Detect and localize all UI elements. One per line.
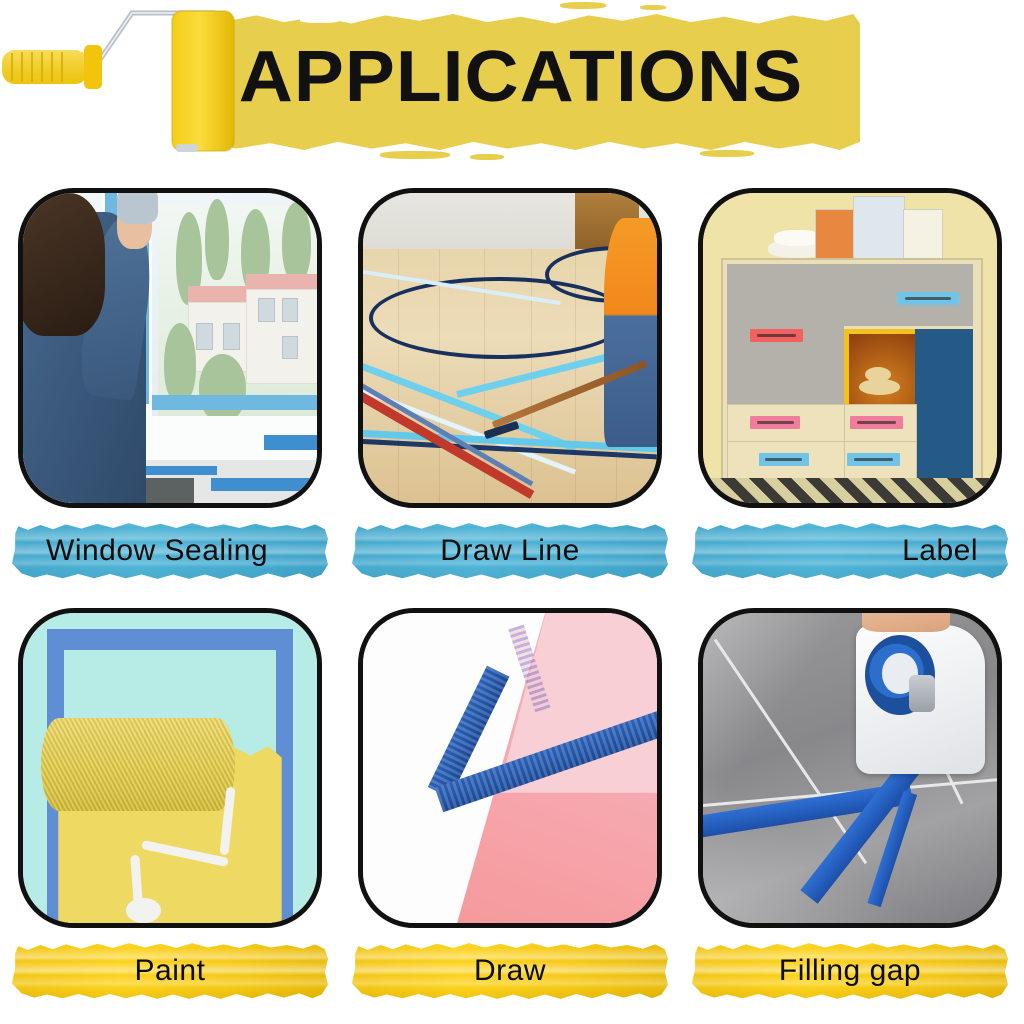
banner-speck <box>380 151 450 159</box>
photo-tile-draw <box>358 608 662 928</box>
application-label: Paint <box>12 940 328 1002</box>
photo-tile-draw-line <box>358 188 662 508</box>
application-card-draw[interactable]: Draw <box>348 608 678 1024</box>
photo-paint <box>23 613 317 923</box>
label-plaque-paint: Paint <box>12 940 328 1002</box>
tape-tag <box>750 329 803 342</box>
label-plaque-label: Label <box>692 520 1008 582</box>
photo-draw <box>363 613 657 923</box>
application-label: Label <box>692 520 1008 582</box>
photo-tile-window-sealing <box>18 188 322 508</box>
photo-tile-paint <box>18 608 322 928</box>
application-label: Window Sealing <box>12 520 328 582</box>
application-card-label[interactable]: Label <box>688 188 1018 604</box>
page-header: APPLICATIONS <box>0 0 1024 176</box>
label-plaque-draw-line: Draw Line <box>352 520 668 582</box>
tape-tag <box>847 453 900 466</box>
photo-draw-line <box>363 193 657 503</box>
photo-tile-label <box>698 188 1002 508</box>
page-title: APPLICATIONS <box>168 36 873 118</box>
banner-speck <box>300 17 340 23</box>
tape-tag <box>897 292 959 305</box>
label-plaque-draw: Draw <box>352 940 668 1002</box>
application-card-window-sealing[interactable]: Window Sealing <box>8 188 338 604</box>
banner-speck <box>560 2 606 9</box>
application-card-paint[interactable]: Paint <box>8 608 338 1024</box>
banner-speck <box>640 5 666 10</box>
applications-grid: Window Sealing <box>0 176 1024 1024</box>
application-card-filling-gap[interactable]: Filling gap <box>688 608 1018 1024</box>
tape-tag <box>750 416 800 429</box>
photo-window-sealing <box>23 193 317 503</box>
photo-tile-filling-gap <box>698 608 1002 928</box>
application-label: Draw <box>352 940 668 1002</box>
application-label: Draw Line <box>352 520 668 582</box>
application-label: Filling gap <box>692 940 1008 1002</box>
application-card-draw-line[interactable]: Draw Line <box>348 188 678 604</box>
tape-tag <box>759 453 809 466</box>
photo-filling-gap <box>703 613 997 923</box>
tape-tag <box>850 416 903 429</box>
label-plaque-window-sealing: Window Sealing <box>12 520 328 582</box>
photo-label <box>703 193 997 503</box>
banner-speck <box>470 154 504 160</box>
banner-speck <box>700 150 754 157</box>
label-plaque-filling-gap: Filling gap <box>692 940 1008 1002</box>
